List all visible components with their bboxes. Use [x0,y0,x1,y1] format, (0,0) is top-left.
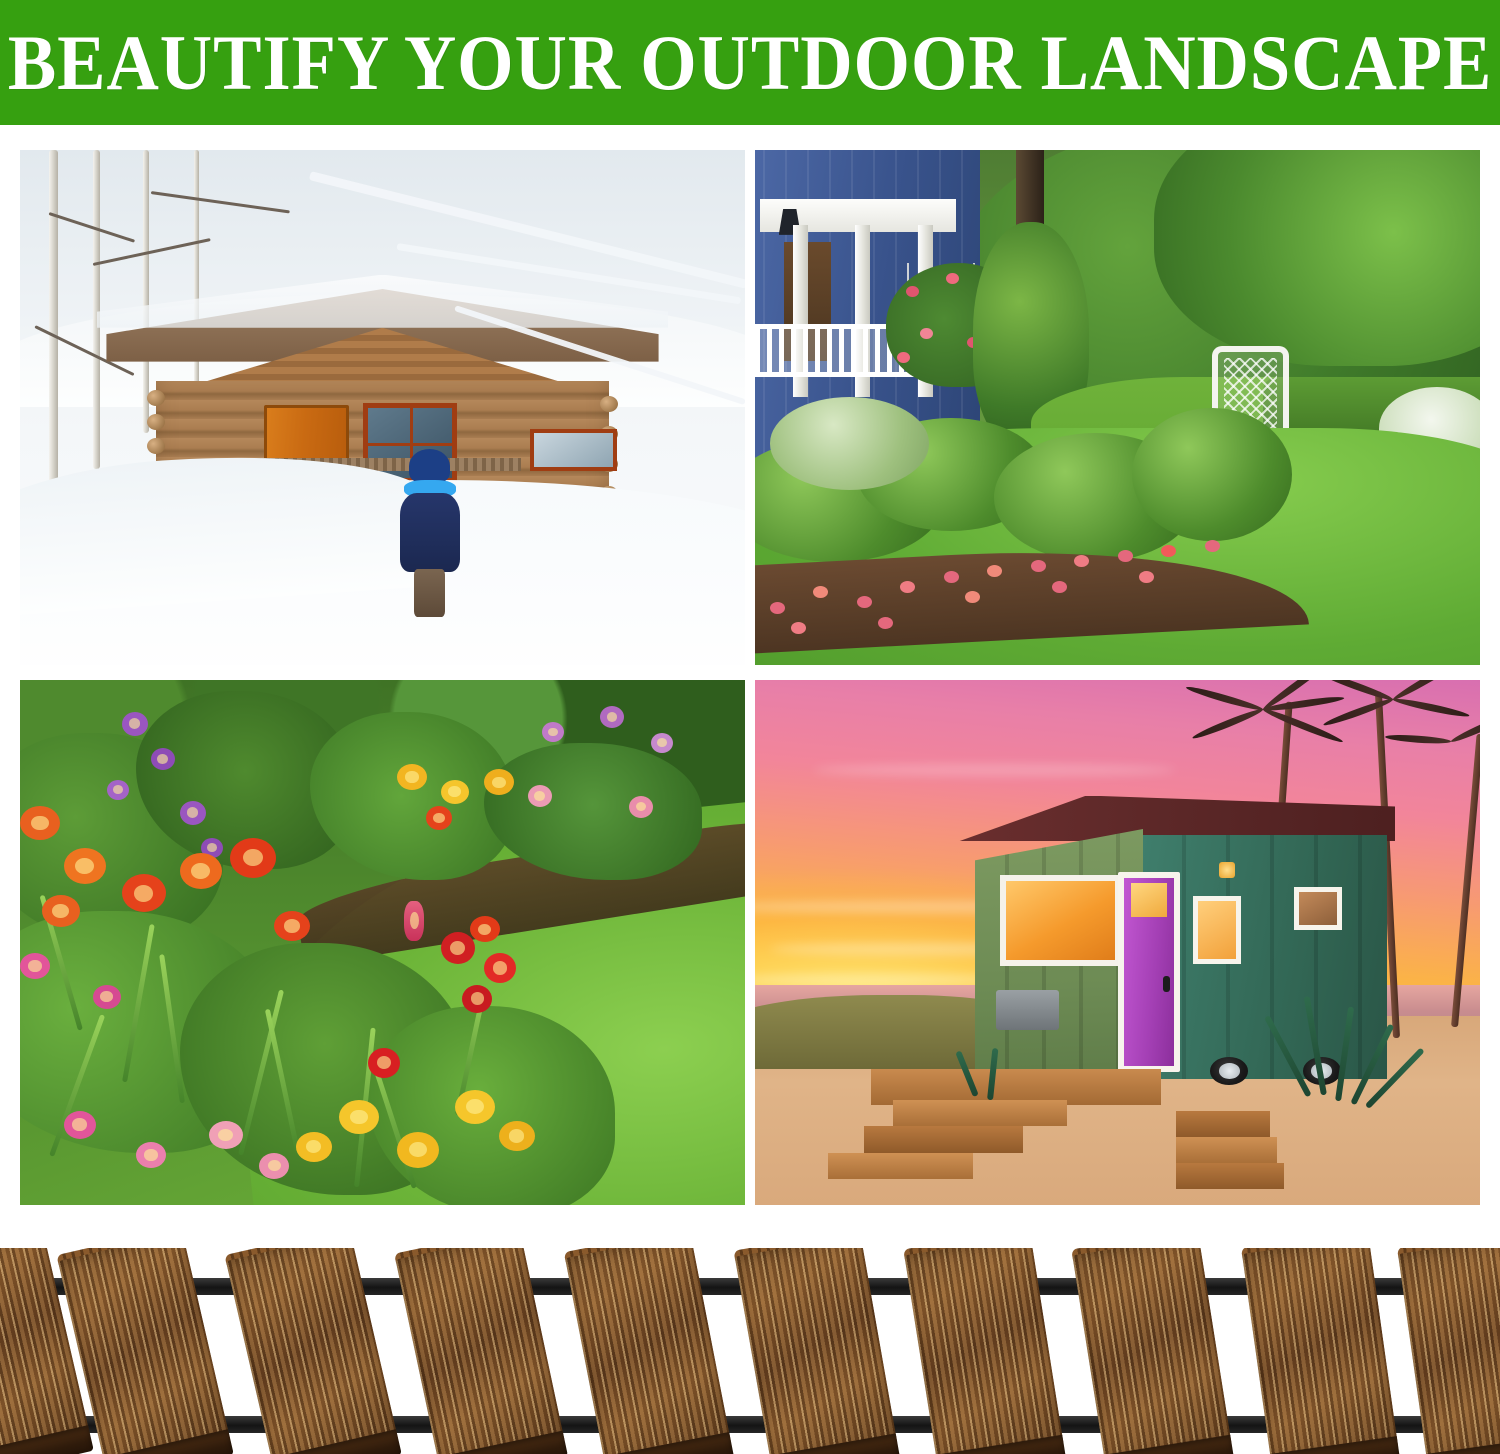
log-end [147,390,165,406]
yellow-daylily [397,764,427,790]
red-rose [441,932,475,964]
bedding-flower [944,571,959,583]
purple-entry-door [1118,872,1180,1073]
window-mullion [368,443,452,446]
lifestyle-image-grid [20,150,1480,1205]
palm-frond [1261,707,1343,746]
pink-bloom [20,953,50,979]
porch-light-icon [1219,862,1235,878]
winter-cabin-photo [20,150,745,665]
pink-bloom [64,1111,96,1139]
deck-step [828,1153,973,1179]
purple-bloom [542,722,564,742]
palm-frond [1392,696,1470,719]
cloud-band [813,764,1176,776]
board-batten [1270,835,1274,1079]
product-hero-photo[interactable] [0,1248,1500,1454]
red-daylily [122,874,166,912]
cabin-side-window [530,429,617,471]
palm-frond [1191,707,1264,742]
pink-bloom [209,1121,243,1149]
orange-daylily [20,806,60,840]
basket-bloom [946,273,959,284]
yellow-daylily [397,1132,439,1168]
orange-daylily [64,848,106,884]
yellow-daylily [499,1121,535,1151]
knit-hat [409,449,451,484]
purple-bloom [180,801,206,825]
red-daylily [470,916,500,942]
orange-daylily [42,895,80,927]
pink-bloom [528,785,552,807]
purple-bloom [122,712,148,736]
trailer-wheel [1210,1057,1248,1084]
gallery-tile-front-yard[interactable] [755,150,1480,665]
bedding-flower [1161,545,1176,557]
purple-bloom [651,733,673,753]
side-step [1176,1163,1285,1189]
palm-frond [1185,684,1264,713]
picture-window [1000,875,1121,966]
bedding-flower [770,602,785,614]
side-step [1176,1137,1278,1163]
basket-bloom [906,286,919,297]
tiny-house-photo [755,680,1480,1205]
board-batten [1182,835,1186,1079]
door-glass-panel [1131,883,1167,917]
flower-border-photo [20,680,745,1205]
orange-daylily [180,853,222,889]
bedding-flower [900,581,915,593]
pink-bloom [629,796,653,818]
purple-bloom [151,748,175,770]
bedding-flower [1205,540,1220,552]
yellow-daylily [339,1100,379,1134]
bedding-flower [1139,571,1154,583]
palm-frond [1385,733,1451,745]
front-yard-photo [755,150,1480,665]
flowering-shrub [770,397,930,490]
yellow-daylily [455,1090,495,1124]
winter-coat [400,493,460,572]
basket-bloom [920,328,933,339]
red-daylily [274,911,310,941]
purple-bloom [107,780,129,800]
door-knob [1163,976,1170,992]
red-daylily [230,838,276,878]
red-daylily [426,806,452,830]
bedding-flower [1031,560,1046,572]
log-end [600,396,618,412]
bedding-flower [1118,550,1133,562]
bedding-flower [857,596,872,608]
small-window [1294,887,1342,930]
pink-bloom [259,1153,289,1179]
side-step [1176,1111,1270,1137]
deck-step [893,1100,1067,1126]
board-batten [1358,835,1362,1079]
pink-bloom [136,1142,166,1168]
wood-slat [1242,1248,1398,1454]
birch-tree [93,150,100,469]
gallery-tile-flower-border[interactable] [20,680,745,1205]
yellow-daylily [296,1132,332,1162]
slat-surface [1242,1248,1398,1454]
red-rose [462,985,492,1013]
air-conditioner-unit [996,990,1059,1030]
log-end [147,414,165,430]
palm-trunk [1451,733,1480,1026]
red-rose [484,953,516,983]
astilbe-spike [404,901,424,941]
boxwood-shrub [1132,408,1292,542]
headline-text: BEAUTIFY YOUR OUTDOOR LANDSCAPE [8,24,1492,102]
snow-pants [414,569,445,617]
gallery-tile-winter-cabin[interactable] [20,150,745,665]
wheel-hub [1219,1063,1240,1078]
log-end [147,438,165,454]
headline-banner: BEAUTIFY YOUR OUTDOOR LANDSCAPE [0,0,1500,125]
red-rose [368,1048,400,1078]
bedding-flower [813,586,828,598]
pink-bloom [93,985,121,1009]
child-figure [397,449,462,614]
side-window [1193,896,1241,964]
yellow-daylily [441,780,469,804]
gallery-tile-tiny-house[interactable] [755,680,1480,1205]
basket-bloom [897,352,910,363]
deck-step [864,1126,1024,1152]
